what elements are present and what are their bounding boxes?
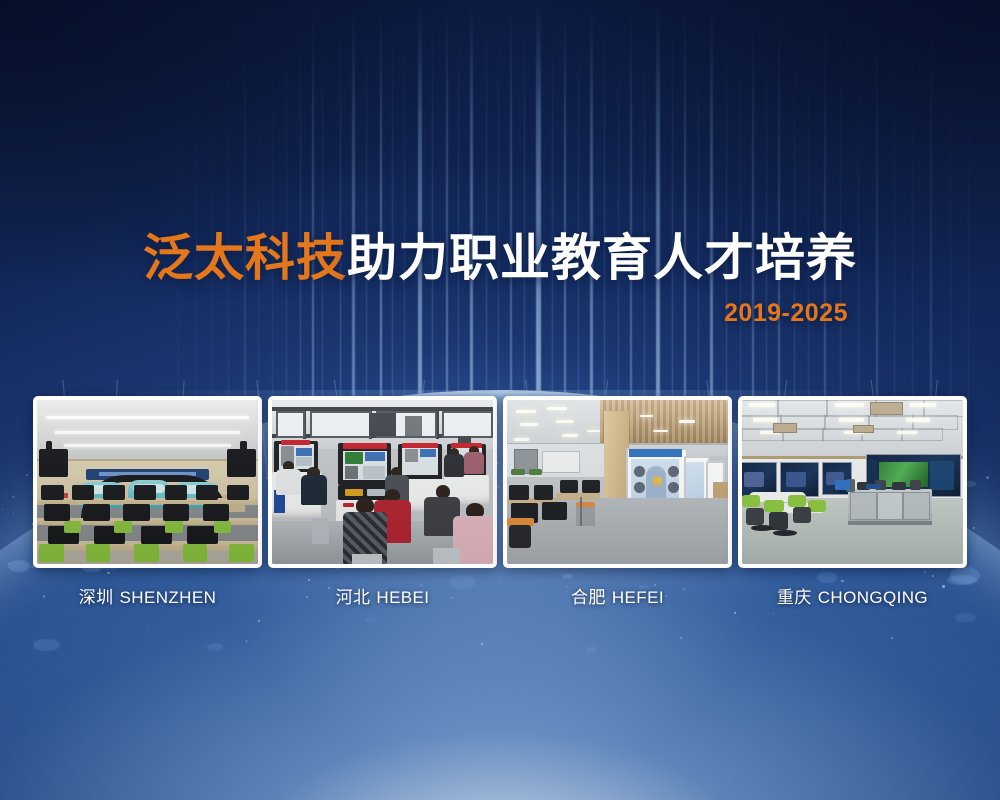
caption-shenzhen: 深圳SHENZHEN — [33, 583, 262, 608]
caption-chongqing: 重庆CHONGQING — [738, 583, 967, 608]
caption-hebei-en: HEBEI — [376, 588, 429, 607]
photo-gallery — [33, 396, 967, 568]
caption-shenzhen-cn: 深圳 — [79, 588, 114, 607]
photo-hebei — [272, 400, 493, 564]
caption-hebei-cn: 河北 — [336, 588, 371, 607]
caption-chongqing-en: CHONGQING — [818, 588, 928, 607]
photo-chongqing — [742, 400, 963, 564]
photo-card-chongqing[interactable] — [738, 396, 967, 568]
caption-hebei: 河北HEBEI — [268, 583, 497, 608]
caption-shenzhen-en: SHENZHEN — [120, 588, 217, 607]
photo-captions: 深圳SHENZHEN 河北HEBEI 合肥HEFEI 重庆CHONGQING — [33, 583, 967, 608]
caption-hefei-cn: 合肥 — [571, 588, 606, 607]
caption-hefei: 合肥HEFEI — [503, 583, 732, 608]
photo-hefei — [507, 400, 728, 564]
caption-hefei-en: HEFEI — [612, 588, 664, 607]
photo-card-hefei[interactable] — [503, 396, 732, 568]
photo-card-shenzhen[interactable] — [33, 396, 262, 568]
photo-card-hebei[interactable] — [268, 396, 497, 568]
photo-shenzhen — [37, 400, 258, 564]
poster-canvas: 泛太科技助力职业教育人才培养 2019-2025 — [0, 0, 1000, 800]
caption-chongqing-cn: 重庆 — [777, 588, 812, 607]
